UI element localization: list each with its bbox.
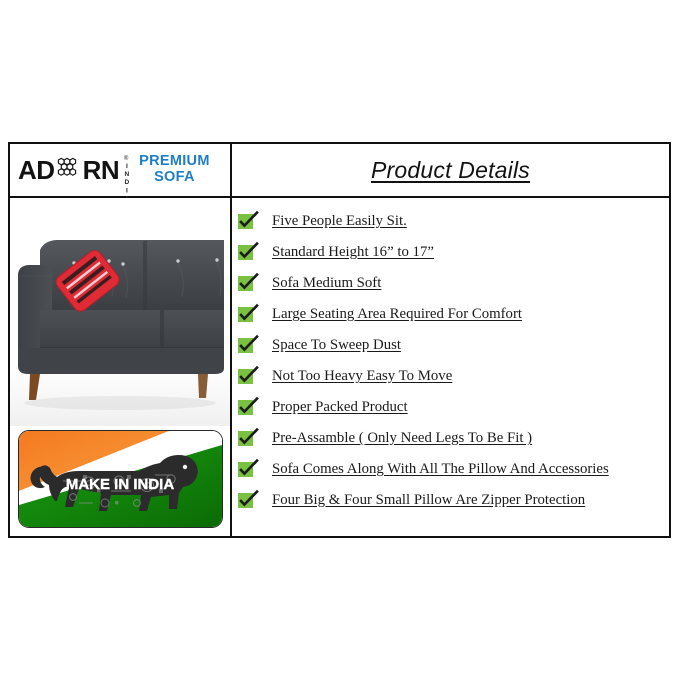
features-list: Five People Easily Sit. Standard Height … [232,198,669,536]
make-in-india-badge: MAKE IN INDIA [18,430,223,528]
feature-item: Standard Height 16” to 17” [238,243,669,274]
green-checkbox-icon [238,493,253,508]
feature-label: Standard Height 16” to 17” [272,243,434,261]
page-title: Product Details [371,157,530,184]
green-checkbox-icon [238,245,253,260]
green-checkbox-icon [238,400,253,415]
product-details-card: AD [8,142,671,538]
card-body: MAKE IN INDIA Five People Easily Sit. [10,198,669,536]
card-header: AD [10,144,669,198]
feature-label: Four Big & Four Small Pillow Are Zipper … [272,491,585,509]
adorn-letters-ad: AD [18,157,55,183]
green-checkbox-icon [238,338,253,353]
brand-sub-marks: ® INDIA [120,155,132,185]
green-checkbox-icon [238,276,253,291]
feature-label: Five People Easily Sit. [272,212,407,230]
brand-cell: AD [10,144,232,196]
feature-label: Sofa Medium Soft [272,274,381,292]
premium-sofa-tagline: PREMIUM SOFA [139,154,210,185]
feature-label: Space To Sweep Dust [272,336,401,354]
adorn-wordmark: AD [18,155,132,185]
green-checkbox-icon [238,369,253,384]
feature-item: Sofa Medium Soft [238,274,669,305]
feature-label: Pre-Assamble ( Only Need Legs To Be Fit … [272,429,532,447]
feature-item: Space To Sweep Dust [238,336,669,367]
feature-item: Proper Packed Product [238,398,669,429]
green-checkbox-icon [238,462,253,477]
honeycomb-hexagon-cluster-icon [56,155,82,186]
feature-item: Pre-Assamble ( Only Need Legs To Be Fit … [238,429,669,460]
feature-label: Proper Packed Product [272,398,408,416]
sofa-product-image [10,198,230,426]
badge-label: MAKE IN INDIA [65,476,174,493]
feature-item: Four Big & Four Small Pillow Are Zipper … [238,491,669,522]
adorn-logo: AD [18,154,210,185]
feature-label: Sofa Comes Along With All The Pillow And… [272,460,609,478]
feature-label: Large Seating Area Required For Comfort [272,305,522,323]
tagline-premium: PREMIUM [139,154,210,170]
green-checkbox-icon [238,214,253,229]
green-checkbox-icon [238,431,253,446]
feature-item: Sofa Comes Along With All The Pillow And… [238,460,669,491]
title-cell: Product Details [232,144,669,196]
feature-item: Five People Easily Sit. [238,212,669,243]
registered-trademark-icon: ® [124,156,128,162]
media-column: MAKE IN INDIA [10,198,232,536]
tagline-sofa: SOFA [154,170,195,186]
feature-label: Not Too Heavy Easy To Move [272,367,452,385]
feature-item: Not Too Heavy Easy To Move [238,367,669,398]
adorn-letters-rn: RN [83,157,120,183]
feature-item: Large Seating Area Required For Comfort [238,305,669,336]
green-checkbox-icon [238,307,253,322]
